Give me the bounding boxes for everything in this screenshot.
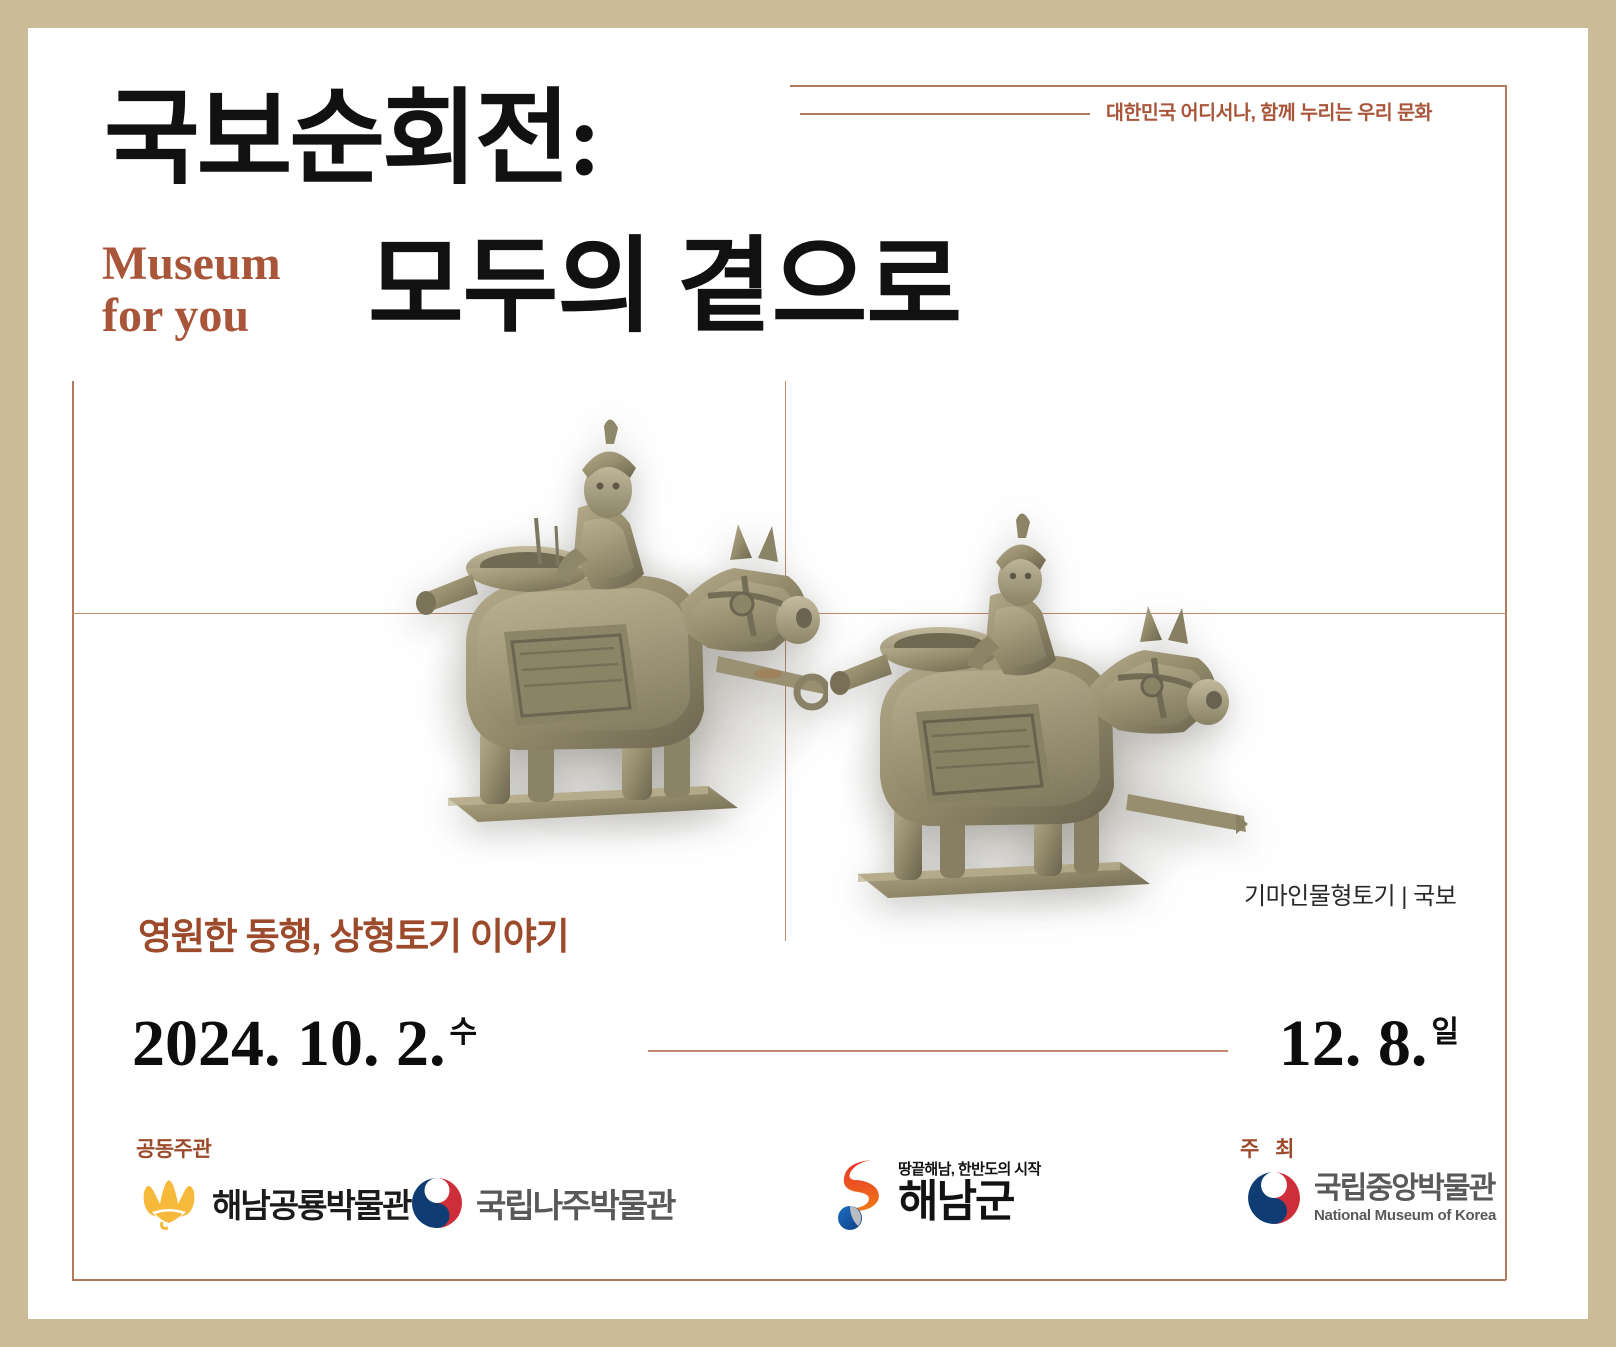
exhibition-subtitle: 영원한 동행, 상형토기 이야기 <box>138 906 568 960</box>
frame-border-top <box>790 85 1506 87</box>
artifact-caption: 기마인물형토기 | 국보 <box>1244 876 1456 911</box>
tagline-rule <box>800 113 1090 115</box>
frame-border-left <box>72 381 74 1280</box>
frame-border-bottom <box>72 1279 1506 1281</box>
nmk-name-korean: 국립중앙박물관 <box>1314 1174 1496 1204</box>
page-title-line-1: 국보순회전: <box>104 88 599 192</box>
naju-national-museum-name: 국립나주박물관 <box>476 1179 675 1227</box>
end-date: 12. 8.일 <box>1279 1006 1458 1082</box>
frame-border-right <box>1505 85 1507 1280</box>
date-range-rule <box>648 1050 1228 1052</box>
logo-haenamgun: 땅끝해남, 한반도의 시작 해남군 <box>828 1156 1041 1230</box>
haenamgun-text-block: 땅끝해남, 한반도의 시작 해남군 <box>898 1162 1041 1224</box>
nmk-name-english: National Museum of Korea <box>1314 1208 1496 1223</box>
cohost-label: 공동주관 <box>136 1133 211 1163</box>
haenam-dinosaur-museum-name: 해남공룡박물관 <box>212 1179 411 1227</box>
exhibition-poster: 대한민국 어디서나, 함께 누리는 우리 문화 국보순회전: Museum fo… <box>0 0 1616 1347</box>
english-title-line-1: Museum <box>102 238 281 290</box>
english-title-line-2: for you <box>102 290 281 342</box>
logo-naju-national-museum: 국립나주박물관 <box>410 1176 675 1230</box>
start-date-dow: 수 <box>450 1016 477 1049</box>
haenamgun-symbol-icon <box>828 1156 886 1230</box>
haenam-dinosaur-crown-icon <box>138 1176 200 1230</box>
start-date: 2024. 10. 2.수 <box>132 1006 476 1082</box>
haenamgun-slogan: 땅끝해남, 한반도의 시작 <box>898 1162 1041 1177</box>
mounted-warrior-pottery-small-icon <box>828 498 1248 938</box>
tagline: 대한민국 어디서나, 함께 누리는 우리 문화 <box>1106 96 1432 125</box>
logo-haenam-dinosaur-museum: 해남공룡박물관 <box>138 1176 411 1230</box>
korea-government-taegeuk-icon <box>1246 1170 1302 1226</box>
page-title-line-2: 모두의 곁으로 <box>368 236 961 340</box>
haenamgun-name: 해남군 <box>898 1180 1041 1224</box>
artifact-image-area <box>388 388 1288 948</box>
poster-canvas: 대한민국 어디서나, 함께 누리는 우리 문화 국보순회전: Museum fo… <box>28 28 1588 1319</box>
end-date-dow: 일 <box>1431 1016 1458 1049</box>
logo-national-museum-of-korea: 국립중앙박물관 National Museum of Korea <box>1246 1170 1496 1226</box>
host-label: 주 최 <box>1240 1133 1299 1163</box>
english-title: Museum for you <box>102 238 281 342</box>
start-date-value: 2024. 10. 2. <box>132 1007 446 1080</box>
mounted-warrior-pottery-large-icon <box>408 398 828 868</box>
korea-government-taegeuk-icon <box>410 1176 464 1230</box>
nmk-text-block: 국립중앙박물관 National Museum of Korea <box>1314 1174 1496 1223</box>
end-date-value: 12. 8. <box>1279 1007 1428 1080</box>
